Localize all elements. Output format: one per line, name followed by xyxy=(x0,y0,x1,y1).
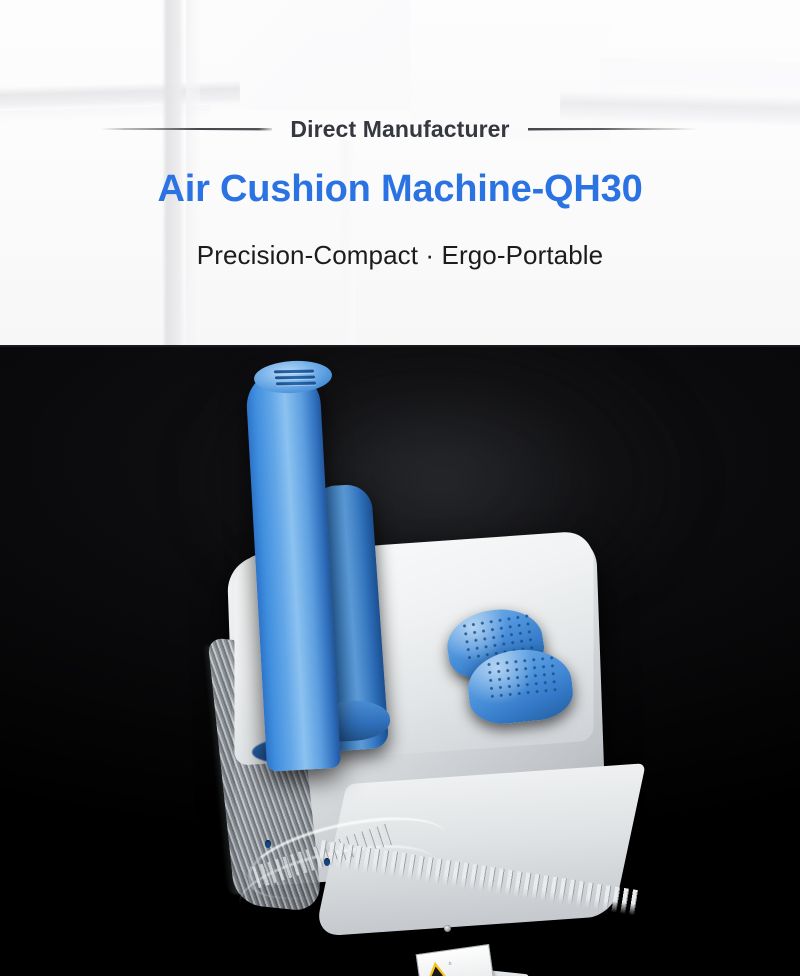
warning-triangle-icon xyxy=(426,960,446,976)
header-section: Direct Manufacturer Air Cushion Machine-… xyxy=(0,0,800,345)
tube-hole-1 xyxy=(265,840,271,848)
page-title: Air Cushion Machine-QH30 xyxy=(0,168,800,211)
product-banner-page: Direct Manufacturer Air Cushion Machine-… xyxy=(0,0,800,976)
eyebrow-row: Direct Manufacturer xyxy=(0,112,800,146)
product-photo: ⚠ 警告/WARNING 高温注意·烫 xyxy=(0,345,800,976)
cutter-cover-lower-perforations xyxy=(484,653,562,701)
warning-label-cutter-1: ⚠ xyxy=(416,944,495,976)
machine-assembly: ⚠ 警告/WARNING 高温注意·烫 xyxy=(0,345,800,976)
eyebrow-rule-right xyxy=(528,128,700,131)
page-subtitle: Precision-Compact · Ergo-Portable xyxy=(0,240,800,271)
decorative-panel-1 xyxy=(196,0,411,110)
chassis-screw-1 xyxy=(444,925,452,933)
eyebrow-rule-left xyxy=(100,128,272,131)
tube-hole-2 xyxy=(324,858,330,866)
eyebrow-text: Direct Manufacturer xyxy=(290,118,509,141)
decorative-band-horizontal-1 xyxy=(0,80,240,112)
